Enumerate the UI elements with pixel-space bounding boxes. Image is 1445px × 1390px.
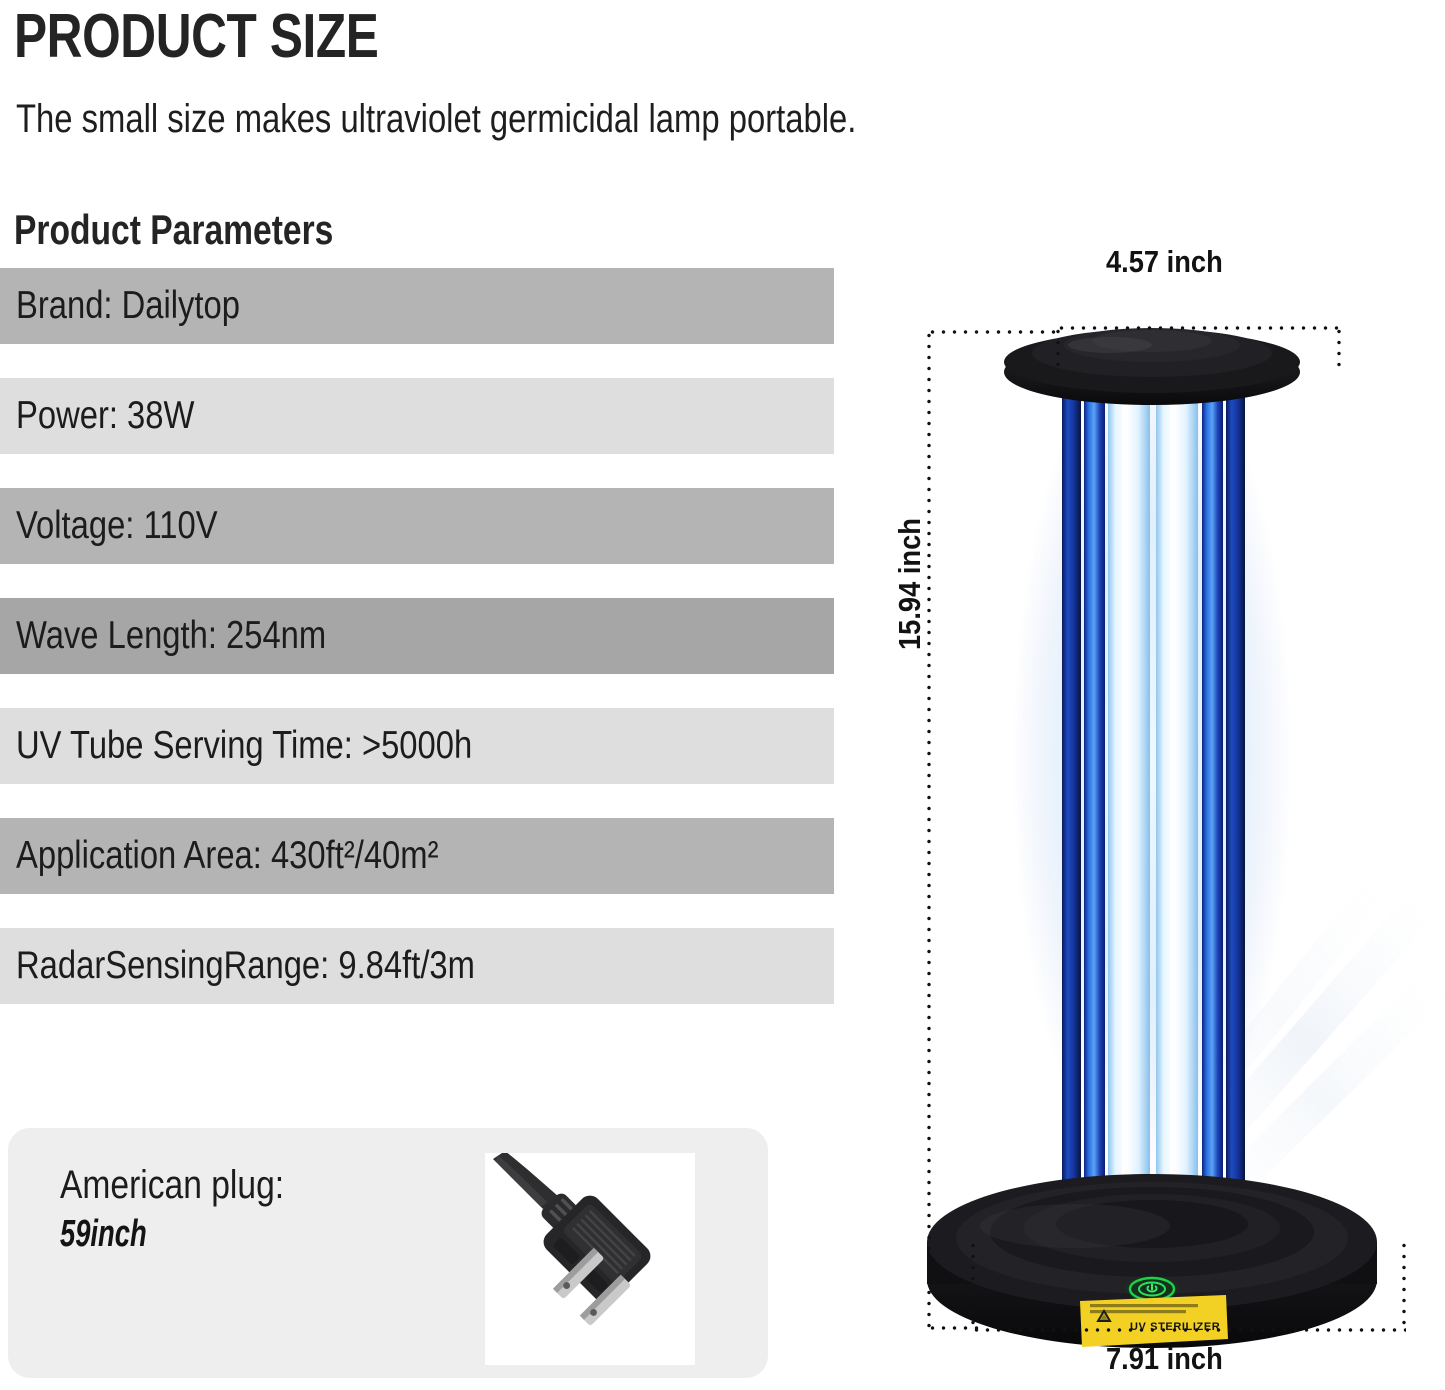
parameter-row: Brand: Dailytop xyxy=(0,268,834,344)
parameter-row: Application Area: 430ft²/40m² xyxy=(0,818,834,894)
info-panel: PRODUCT SIZE The small size makes ultrav… xyxy=(0,0,860,1390)
dim-guide-left-top-tick xyxy=(927,330,1061,334)
dim-guide-bottom-left-tick xyxy=(971,1240,975,1330)
parameter-text: Voltage: 110V xyxy=(16,504,218,548)
product-illustration: UV STERILIZER xyxy=(860,0,1445,1390)
parameter-text: Application Area: 430ft²/40m² xyxy=(16,834,438,878)
parameter-text: Brand: Dailytop xyxy=(16,284,240,328)
product-dimension-panel: UV STERILIZER 4.57 inch 15.94 inch 7.91 … xyxy=(860,0,1445,1390)
dim-guide-bottom-horizontal xyxy=(971,1328,1406,1332)
parameter-row: Wave Length: 254nm xyxy=(0,598,834,674)
top-cap xyxy=(1004,328,1300,405)
parameter-list: Brand: Dailytop Power: 38W Voltage: 110V… xyxy=(0,268,834,1038)
dim-guide-bottom-right-tick xyxy=(1402,1240,1406,1330)
plug-label-line1: American plug: xyxy=(60,1162,284,1208)
dim-guide-top-horizontal xyxy=(1056,326,1341,330)
parameter-text: Wave Length: 254nm xyxy=(16,614,326,658)
parameter-row: Power: 38W xyxy=(0,378,834,454)
parameter-row: RadarSensingRange: 9.84ft/3m xyxy=(0,928,834,1004)
page-subtitle: The small size makes ultraviolet germici… xyxy=(16,96,856,142)
parameter-text: Power: 38W xyxy=(16,394,194,438)
section-title-product-parameters: Product Parameters xyxy=(14,206,333,254)
parameter-row: Voltage: 110V xyxy=(0,488,834,564)
dim-guide-left-vertical xyxy=(927,330,931,1330)
warning-label: UV STERILIZER xyxy=(1080,1295,1228,1347)
parameter-text: UV Tube Serving Time: >5000h xyxy=(16,724,472,768)
dimension-label-height: 15.94 inch xyxy=(893,518,927,650)
parameter-row: UV Tube Serving Time: >5000h xyxy=(0,708,834,784)
plug-photo xyxy=(485,1153,695,1365)
plug-label-line2: 59inch xyxy=(60,1212,147,1256)
dimension-label-width-bottom: 7.91 inch xyxy=(1106,1342,1223,1376)
parameter-text: RadarSensingRange: 9.84ft/3m xyxy=(16,944,475,988)
dim-guide-top-right-tick xyxy=(1337,326,1341,368)
american-plug-card: American plug: 59inch xyxy=(8,1128,768,1378)
power-plug-icon xyxy=(485,1153,695,1365)
page-title: PRODUCT SIZE xyxy=(14,4,378,70)
dimension-label-width-top: 4.57 inch xyxy=(1106,245,1223,279)
